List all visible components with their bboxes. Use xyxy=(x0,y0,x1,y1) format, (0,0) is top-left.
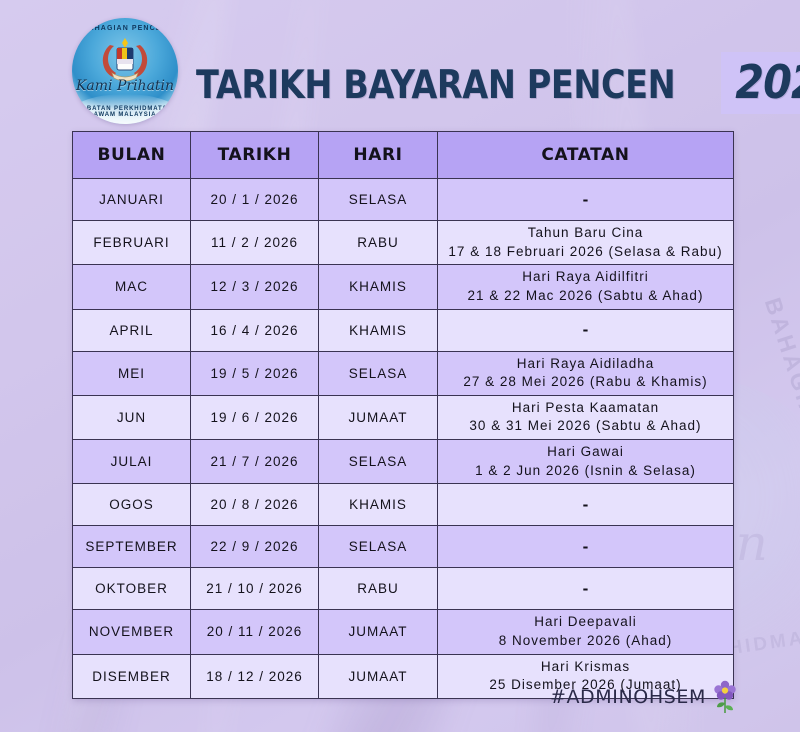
cell-catatan: Hari Raya Aidilfitri21 & 22 Mac 2026 (Sa… xyxy=(438,265,734,309)
cell-tarikh: 19 / 5 / 2026 xyxy=(191,351,319,395)
cell-hari: SELASA xyxy=(319,351,438,395)
catatan-line-1: Hari Raya Aidilfitri xyxy=(442,268,729,287)
cell-bulan: JUN xyxy=(73,395,191,439)
table-header-row: BULAN TARIKH HARI CATATAN xyxy=(73,132,734,179)
pension-payment-table: BULAN TARIKH HARI CATATAN JANUARI20 / 1 … xyxy=(72,131,734,699)
cell-bulan: JULAI xyxy=(73,440,191,484)
logo-motto-text: Kami Prihatin xyxy=(72,78,178,94)
cell-catatan: - xyxy=(438,568,734,610)
purple-flower-icon xyxy=(712,680,738,714)
table-row: SEPTEMBER22 / 9 / 2026SELASA- xyxy=(73,526,734,568)
cell-bulan: OKTOBER xyxy=(73,568,191,610)
table-row: OGOS20 / 8 / 2026KHAMIS- xyxy=(73,484,734,526)
column-header-bulan: BULAN xyxy=(73,132,191,179)
cell-hari: KHAMIS xyxy=(319,484,438,526)
cell-bulan: APRIL xyxy=(73,309,191,351)
cell-catatan: Hari Raya Aidiladha27 & 28 Mei 2026 (Rab… xyxy=(438,351,734,395)
table-row: JULAI21 / 7 / 2026SELASAHari Gawai1 & 2 … xyxy=(73,440,734,484)
cell-hari: RABU xyxy=(319,221,438,265)
cell-hari: JUMAAT xyxy=(319,610,438,654)
page-header: BAHAGIAN PENCEN Kami Prihatin JABATAN PE… xyxy=(0,0,800,126)
page-title-text: TARIKH BAYARAN PENCEN xyxy=(196,63,675,108)
cell-catatan: - xyxy=(438,526,734,568)
cell-hari: JUMAAT xyxy=(319,395,438,439)
cell-tarikh: 19 / 6 / 2026 xyxy=(191,395,319,439)
catatan-line-1: Tahun Baru Cina xyxy=(442,224,729,243)
malaysia-coat-of-arms-icon xyxy=(94,35,156,83)
catatan-line-1: Hari Krismas xyxy=(442,658,729,677)
catatan-line-1: Hari Deepavali xyxy=(442,613,729,632)
watermark-ring-text-top: BAHAGIAN PENCEN xyxy=(759,294,800,560)
cell-bulan: JANUARI xyxy=(73,179,191,221)
catatan-empty-dash: - xyxy=(583,495,589,514)
cell-catatan: - xyxy=(438,179,734,221)
table-row: JANUARI20 / 1 / 2026SELASA- xyxy=(73,179,734,221)
cell-bulan: MAC xyxy=(73,265,191,309)
cell-bulan: NOVEMBER xyxy=(73,610,191,654)
cell-hari: SELASA xyxy=(319,179,438,221)
cell-tarikh: 12 / 3 / 2026 xyxy=(191,265,319,309)
cell-tarikh: 20 / 8 / 2026 xyxy=(191,484,319,526)
cell-hari: RABU xyxy=(319,568,438,610)
pension-payment-table-container: BULAN TARIKH HARI CATATAN JANUARI20 / 1 … xyxy=(72,131,733,699)
catatan-line-2: 30 & 31 Mei 2026 (Sabtu & Ahad) xyxy=(442,417,729,436)
cell-hari: SELASA xyxy=(319,526,438,568)
cell-catatan: Hari Gawai1 & 2 Jun 2026 (Isnin & Selasa… xyxy=(438,440,734,484)
catatan-line-2: 27 & 28 Mei 2026 (Rabu & Khamis) xyxy=(442,373,729,392)
cell-catatan: Hari Deepavali8 November 2026 (Ahad) xyxy=(438,610,734,654)
page-title-year: 2026 xyxy=(736,55,800,109)
logo-ring-text-top: BAHAGIAN PENCEN xyxy=(72,25,178,32)
hashtag-label: #ADMINOHSEM xyxy=(550,686,706,708)
cell-catatan: Tahun Baru Cina17 & 18 Februari 2026 (Se… xyxy=(438,221,734,265)
cell-hari: KHAMIS xyxy=(319,265,438,309)
jpa-pension-logo: BAHAGIAN PENCEN Kami Prihatin JABATAN PE… xyxy=(72,18,178,124)
column-header-tarikh: TARIKH xyxy=(191,132,319,179)
catatan-empty-dash: - xyxy=(583,190,589,209)
cell-tarikh: 22 / 9 / 2026 xyxy=(191,526,319,568)
column-header-hari: HARI xyxy=(319,132,438,179)
column-header-catatan: CATATAN xyxy=(438,132,734,179)
catatan-line-2: 17 & 18 Februari 2026 (Selasa & Rabu) xyxy=(442,243,729,262)
page-footer: #ADMINOHSEM xyxy=(0,680,800,714)
catatan-empty-dash: - xyxy=(583,320,589,339)
catatan-line-1: Hari Gawai xyxy=(442,443,729,462)
catatan-line-2: 21 & 22 Mac 2026 (Sabtu & Ahad) xyxy=(442,287,729,306)
cell-catatan: Hari Pesta Kaamatan30 & 31 Mei 2026 (Sab… xyxy=(438,395,734,439)
cell-tarikh: 20 / 11 / 2026 xyxy=(191,610,319,654)
year-highlight-box: 2026 xyxy=(721,52,800,114)
catatan-empty-dash: - xyxy=(583,537,589,556)
cell-bulan: MEI xyxy=(73,351,191,395)
cell-hari: SELASA xyxy=(319,440,438,484)
cell-tarikh: 16 / 4 / 2026 xyxy=(191,309,319,351)
logo-ring-text-bottom: JABATAN PERKHIDMATAN AWAM MALAYSIA xyxy=(72,106,178,118)
cell-catatan: - xyxy=(438,484,734,526)
catatan-line-1: Hari Pesta Kaamatan xyxy=(442,399,729,418)
cell-tarikh: 21 / 10 / 2026 xyxy=(191,568,319,610)
table-row: JUN19 / 6 / 2026JUMAATHari Pesta Kaamata… xyxy=(73,395,734,439)
catatan-line-2: 8 November 2026 (Ahad) xyxy=(442,632,729,651)
cell-tarikh: 21 / 7 / 2026 xyxy=(191,440,319,484)
catatan-line-1: Hari Raya Aidiladha xyxy=(442,355,729,374)
cell-tarikh: 20 / 1 / 2026 xyxy=(191,179,319,221)
table-row: OKTOBER21 / 10 / 2026RABU- xyxy=(73,568,734,610)
table-row: FEBRUARI11 / 2 / 2026RABUTahun Baru Cina… xyxy=(73,221,734,265)
table-row: APRIL16 / 4 / 2026KHAMIS- xyxy=(73,309,734,351)
table-row: MAC12 / 3 / 2026KHAMISHari Raya Aidilfit… xyxy=(73,265,734,309)
table-body: JANUARI20 / 1 / 2026SELASA-FEBRUARI11 / … xyxy=(73,179,734,699)
cell-hari: KHAMIS xyxy=(319,309,438,351)
cell-tarikh: 11 / 2 / 2026 xyxy=(191,221,319,265)
cell-catatan: - xyxy=(438,309,734,351)
table-row: MEI19 / 5 / 2026SELASAHari Raya Aidiladh… xyxy=(73,351,734,395)
cell-bulan: OGOS xyxy=(73,484,191,526)
cell-bulan: FEBRUARI xyxy=(73,221,191,265)
catatan-empty-dash: - xyxy=(583,579,589,598)
cell-bulan: SEPTEMBER xyxy=(73,526,191,568)
page-title: TARIKH BAYARAN PENCEN 2026 xyxy=(196,52,800,114)
table-row: NOVEMBER20 / 11 / 2026JUMAATHari Deepava… xyxy=(73,610,734,654)
catatan-line-2: 1 & 2 Jun 2026 (Isnin & Selasa) xyxy=(442,462,729,481)
